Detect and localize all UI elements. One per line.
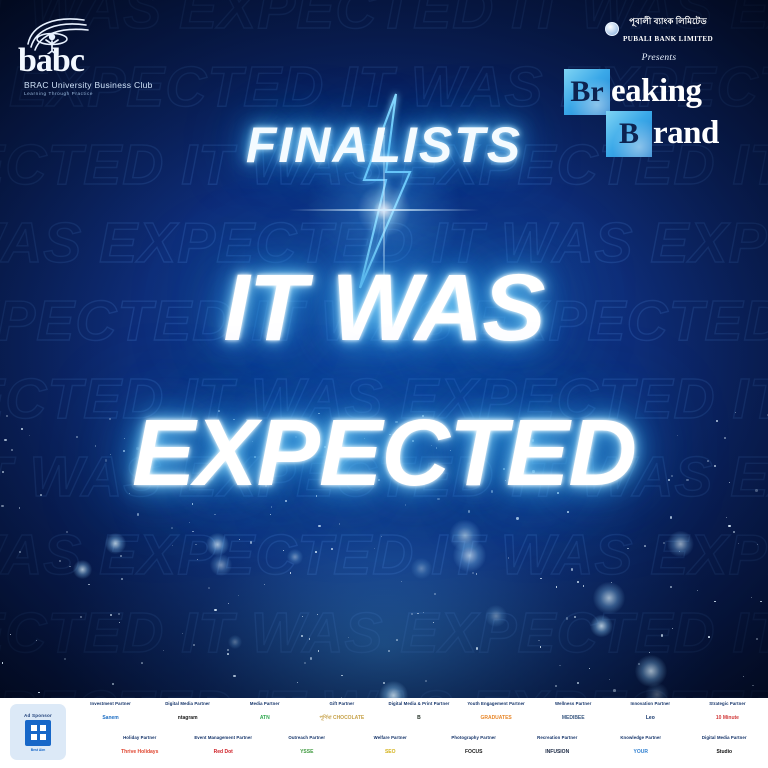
- bokeh-light: [73, 560, 92, 579]
- star-dot: [195, 544, 197, 546]
- star-dot: [627, 548, 628, 549]
- sponsor-logo-name: Thrive Holidays: [121, 750, 158, 755]
- sponsor-logo-name: Sanem: [102, 716, 118, 721]
- star-dot: [697, 590, 698, 591]
- bokeh-light: [667, 531, 694, 558]
- star-dot: [751, 597, 752, 598]
- star-dot: [214, 609, 216, 611]
- pubali-bank-logo: পূবালী ব্যাংক লিমিটেড PUBALI BANK LIMITE…: [564, 12, 754, 46]
- sponsor-item[interactable]: Strategic Partner10 Minute: [689, 701, 766, 728]
- sponsor-caption: Wellness Partner: [555, 701, 591, 706]
- star-dot: [318, 650, 320, 652]
- star-dot: [649, 652, 650, 653]
- star-dot: [315, 551, 317, 553]
- sponsor-logo-name: Studio: [716, 750, 732, 755]
- star-dot: [239, 539, 240, 540]
- star-dot: [577, 682, 579, 684]
- star-dot: [318, 525, 320, 527]
- badge-icon: YOUR: [634, 742, 648, 762]
- y-leaf-icon: YSSE: [300, 742, 313, 762]
- star-dot: [141, 662, 143, 664]
- star-dot: [540, 646, 542, 648]
- sponsor-item[interactable]: Welfare PartnerSEO: [349, 735, 433, 762]
- star-dot: [118, 613, 120, 615]
- star-dot: [339, 523, 341, 525]
- clapper-icon: Studio: [716, 742, 732, 762]
- paper-plane-icon: Sanem: [102, 708, 118, 728]
- b-square-icon: B: [417, 708, 421, 728]
- star-dot: [227, 649, 229, 651]
- star-dot: [227, 653, 229, 655]
- bokeh-light: [453, 539, 486, 572]
- poster-canvas: IT WAS EXPECTED IT WAS EXPECTED IT WAS E…: [0, 0, 768, 768]
- star-dot: [476, 573, 477, 574]
- star-dot: [110, 614, 112, 616]
- sponsor-caption: Welfare Partner: [374, 735, 407, 740]
- star-dot: [672, 628, 674, 630]
- sponsor-item[interactable]: Outreach PartnerYSSE: [265, 735, 349, 762]
- star-dot: [250, 541, 253, 544]
- sponsor-caption: Recreation Partner: [537, 735, 577, 740]
- sponsor-caption: Holiday Partner: [123, 735, 156, 740]
- star-dot: [59, 560, 61, 562]
- star-dot: [317, 614, 318, 615]
- star-dot: [112, 683, 114, 685]
- pubali-english-name: PUBALI BANK LIMITED: [623, 35, 713, 43]
- star-dot: [172, 545, 173, 546]
- sponsor-item[interactable]: Event Management PartnerRed Dot: [182, 735, 266, 762]
- star-dot: [472, 572, 474, 574]
- star-dot: [197, 559, 198, 560]
- star-dot: [417, 613, 418, 614]
- bokeh-light: [590, 615, 612, 637]
- star-dot: [743, 676, 745, 678]
- presents-label: Presents: [564, 53, 754, 63]
- script-logo-icon: Leo: [646, 708, 655, 728]
- sponsor-item[interactable]: Photography PartnerFOCUS: [432, 735, 516, 762]
- star-dot: [331, 548, 333, 550]
- sponsor-item[interactable]: Media PartnerATN: [226, 701, 303, 728]
- star-dot: [726, 517, 727, 518]
- star-dot: [10, 634, 11, 635]
- star-dot: [571, 568, 573, 570]
- star-dot: [271, 506, 272, 507]
- brand-b-letter: B: [619, 119, 639, 149]
- star-dot: [508, 557, 510, 559]
- sponsor-item[interactable]: Recreation PartnerINFUSION: [516, 735, 600, 762]
- star-dot: [574, 616, 576, 618]
- star-dot: [708, 636, 710, 638]
- star-dot: [476, 647, 479, 650]
- star-dot: [733, 531, 735, 533]
- sponsor-logo-name: পূর্ণিমা CHOCOLATE: [320, 716, 365, 721]
- star-dot: [192, 531, 194, 533]
- star-dot: [468, 510, 471, 513]
- sponsor-item[interactable]: Investment PartnerSanem: [72, 701, 149, 728]
- headline-block: IT WAS EXPECTED: [0, 262, 768, 500]
- star-dot: [374, 548, 375, 549]
- camera-icon: FOCUS: [465, 742, 483, 762]
- star-dot: [301, 635, 303, 637]
- star-dot: [214, 514, 216, 516]
- sponsor-item[interactable]: Digital Media PartnerStudio: [683, 735, 767, 762]
- star-dot: [567, 511, 569, 513]
- star-dot: [757, 544, 758, 545]
- sponsor-caption: Strategic Partner: [709, 701, 745, 706]
- sponsor-logo-name: MEDIBEE: [562, 716, 585, 721]
- star-dot: [120, 555, 122, 557]
- star-dot: [555, 685, 557, 687]
- star-dot: [283, 550, 284, 551]
- sponsor-logo-name: 10 Minute: [716, 716, 739, 721]
- burst-icon: Red Dot: [214, 742, 233, 762]
- sponsor-item[interactable]: Holiday PartnerThrive Holidays: [98, 735, 182, 762]
- star-dot: [121, 578, 123, 580]
- star-dot: [36, 640, 37, 641]
- star-dot: [171, 527, 173, 529]
- star-dot: [341, 675, 343, 677]
- star-dot: [19, 507, 21, 509]
- star-dot: [163, 650, 164, 651]
- star-dot: [193, 644, 195, 646]
- sponsor-logo-name: ATN: [260, 716, 270, 721]
- sponsor-bar: Ad Sponsor Best Aim Investment PartnerSa…: [0, 698, 768, 768]
- star-dot: [297, 682, 298, 683]
- bokeh-light: [287, 549, 303, 565]
- star-dot: [609, 679, 610, 680]
- star-dot: [396, 639, 398, 641]
- bokeh-light: [411, 558, 432, 579]
- pubali-bangla-name: পূবালী ব্যাংক লিমিটেড: [629, 16, 707, 26]
- bokeh-light: [210, 554, 232, 576]
- star-dot: [304, 662, 306, 664]
- sponsor-logo-name: ntagram: [178, 716, 198, 721]
- sponsor-row-1: Investment PartnerSanemDigital Media Par…: [72, 701, 766, 728]
- star-dot: [663, 542, 665, 544]
- sponsor-logo-name: B: [417, 716, 421, 721]
- star-dot: [538, 640, 540, 642]
- star-dot: [270, 514, 271, 515]
- graduate-cap-icon: GRADUATES: [480, 708, 511, 728]
- sponsor-item[interactable]: Innovation PartnerLeo: [612, 701, 689, 728]
- star-dot: [348, 637, 349, 638]
- sponsor-caption: Digital Media Partner: [702, 735, 747, 740]
- star-dot: [381, 536, 382, 537]
- sponsor-item[interactable]: Youth Engagement PartnerGRADUATES: [458, 701, 535, 728]
- star-dot: [425, 680, 427, 682]
- sponsor-caption: Outreach Partner: [288, 735, 325, 740]
- headline-line-1: IT WAS: [0, 262, 768, 355]
- sponsor-logo-name: FOCUS: [465, 750, 483, 755]
- bokeh-light: [593, 582, 626, 615]
- sponsor-caption: Youth Engagement Partner: [467, 701, 524, 706]
- star-dot: [208, 587, 210, 589]
- sponsor-caption: Investment Partner: [90, 701, 131, 706]
- star-dot: [540, 578, 541, 579]
- ad-sponsor-label: Ad Sponsor: [24, 713, 52, 718]
- star-dot: [233, 675, 236, 678]
- star-dot: [80, 616, 81, 617]
- bokeh-light: [206, 533, 230, 557]
- star-dot: [38, 692, 39, 693]
- bokeh-light: [485, 605, 507, 627]
- star-dot: [2, 662, 3, 663]
- sponsor-caption: Media Partner: [250, 701, 280, 706]
- finalists-block: FINALISTS: [0, 92, 768, 252]
- star-dot: [434, 593, 435, 594]
- sponsor-caption: Knowledge Partner: [620, 735, 661, 740]
- sponsor-logo-name: YOUR: [634, 750, 648, 755]
- sponsor-logo-name: GRADUATES: [480, 716, 511, 721]
- star-dot: [137, 513, 139, 515]
- babc-club-logo: babc BRAC University Business Club Learn…: [18, 14, 188, 96]
- star-dot: [583, 585, 585, 587]
- star-dot: [556, 586, 557, 587]
- babc-arc-icon: [22, 14, 96, 54]
- star-dot: [670, 586, 672, 588]
- circle-badge-icon: 10 Minute: [716, 708, 739, 728]
- star-dot: [714, 601, 715, 602]
- star-dot: [119, 622, 120, 623]
- building-icon: [25, 720, 51, 746]
- bokeh-light: [635, 655, 667, 687]
- star-dot: [88, 584, 90, 586]
- star-dot: [433, 622, 434, 623]
- star-dot: [760, 601, 762, 603]
- sponsor-grid: Investment PartnerSanemDigital Media Par…: [72, 700, 766, 766]
- star-dot: [64, 658, 67, 661]
- sponsor-row-2: Holiday PartnerThrive HolidaysEvent Mana…: [72, 735, 766, 762]
- star-dot: [644, 545, 646, 547]
- sponsor-logo-name: INFUSION: [545, 750, 569, 755]
- star-dot: [238, 595, 239, 596]
- star-dot: [411, 613, 413, 615]
- star-dot: [559, 665, 560, 666]
- pubali-seal-icon: [605, 22, 619, 36]
- breaking-br-letters: Br: [570, 77, 603, 107]
- star-dot: [1, 505, 4, 508]
- star-dot: [309, 638, 311, 640]
- sponsor-caption: Innovation Partner: [630, 701, 670, 706]
- wordmark-icon: INFUSION: [545, 742, 569, 762]
- babc-subtitle: BRAC University Business Club: [24, 80, 188, 90]
- sponsor-caption: Photography Partner: [451, 735, 496, 740]
- star-dot: [388, 650, 390, 652]
- sponsor-logo-name: Leo: [646, 716, 655, 721]
- star-dot: [310, 657, 313, 660]
- d-mark-icon: ntagram: [178, 708, 198, 728]
- sponsor-item[interactable]: Knowledge PartnerYOUR: [599, 735, 683, 762]
- star-dot: [19, 551, 21, 553]
- sponsor-item[interactable]: Wellness PartnerMEDIBEE: [535, 701, 612, 728]
- sponsor-caption: Digital Media Partner: [165, 701, 210, 706]
- sponsor-item[interactable]: Digital Media & Print PartnerB: [380, 701, 457, 728]
- star-dot: [613, 689, 616, 692]
- bokeh-light: [105, 533, 126, 554]
- star-dot: [401, 581, 402, 582]
- star-dot: [66, 531, 68, 533]
- finalists-title: FINALISTS: [0, 116, 768, 174]
- sponsor-item[interactable]: Digital Media Partnerntagram: [149, 701, 226, 728]
- star-dot: [589, 668, 590, 669]
- star-dot: [182, 633, 183, 634]
- star-dot: [69, 566, 71, 568]
- anchor-icon: MEDIBEE: [562, 708, 585, 728]
- chocolate-icon: পূর্ণিমা CHOCOLATE: [320, 708, 365, 728]
- star-dot: [290, 572, 292, 574]
- sponsor-caption: Gift Partner: [329, 701, 354, 706]
- star-dot: [302, 616, 303, 617]
- headline-line-2: EXPECTED: [0, 407, 768, 500]
- triangle-icon: ATN: [260, 708, 270, 728]
- ad-sponsor-card[interactable]: Ad Sponsor Best Aim: [10, 704, 66, 760]
- star-dot: [752, 685, 754, 687]
- sponsor-logo-name: SEO: [385, 750, 396, 755]
- ad-sponsor-logo-name: Best Aim: [31, 748, 46, 752]
- star-dot: [423, 612, 425, 614]
- star-dot: [756, 638, 758, 640]
- star-dot: [728, 525, 730, 527]
- sponsor-caption: Digital Media & Print Partner: [389, 701, 450, 706]
- star-dot: [516, 517, 518, 519]
- sponsor-item[interactable]: Gift Partnerপূর্ণিমা CHOCOLATE: [303, 701, 380, 728]
- star-dot: [577, 581, 579, 583]
- star-dot: [189, 522, 190, 523]
- star-dot: [566, 617, 568, 619]
- star-dot: [738, 543, 739, 544]
- sponsor-logo-name: YSSE: [300, 750, 313, 755]
- sponsor-caption: Event Management Partner: [194, 735, 252, 740]
- sponsor-logo-name: Red Dot: [214, 750, 233, 755]
- blocks-icon: SEO: [385, 742, 396, 762]
- star-dot: [670, 516, 672, 518]
- star-dot: [228, 603, 229, 604]
- star-dot: [661, 634, 664, 637]
- bokeh-light: [228, 635, 242, 649]
- star-dot: [264, 584, 265, 585]
- star-icon: Thrive Holidays: [121, 742, 158, 762]
